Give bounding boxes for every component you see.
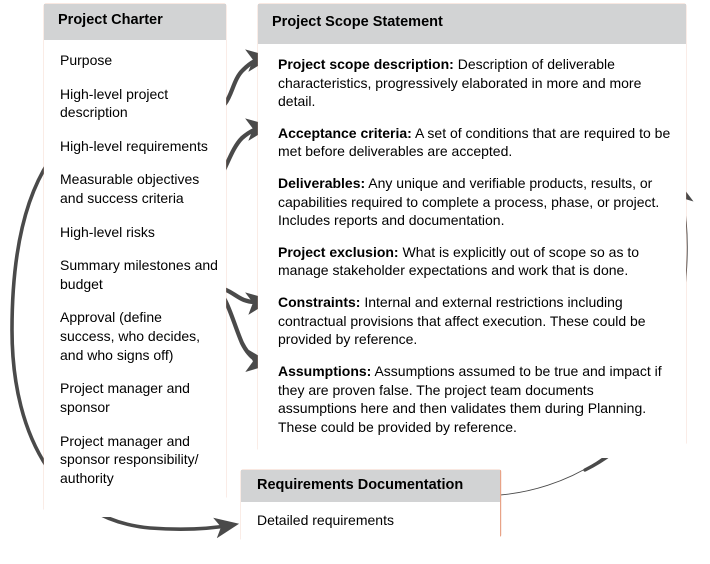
charter-item-summary-milestones-and-budget: Summary milestones and budget [60,256,218,293]
requirements-documentation-box: Requirements Documentation Detailed requ… [241,470,500,551]
charter-item-project-manager-and-sponsor: Project manager and sponsor [60,379,218,416]
charter-item-approval: Approval (define success, who decides, a… [60,308,218,364]
charter-item-high-level-requirements: High-level requirements [60,137,218,156]
box-content-layer: Project Charter Purpose High-level proje… [0,0,710,564]
scope-para-acceptance-criteria: Acceptance criteria: A set of conditions… [278,124,672,161]
charter-item-high-level-risks: High-level risks [60,223,218,242]
scope-term-deliverables: Deliverables: [278,175,365,191]
requirements-documentation-body: Detailed requirements [241,502,500,530]
scope-term-assumptions: Assumptions: [278,363,371,379]
charter-item-purpose: Purpose [60,51,218,70]
diagram-canvas: Project Charter Purpose High-level proje… [0,0,710,564]
requirements-item-detailed-requirements: Detailed requirements [257,511,490,530]
scope-para-constraints: Constraints: Internal and external restr… [278,293,672,349]
scope-term-project-scope-description: Project scope description: [278,56,454,72]
project-charter-body: Purpose High-level project description H… [44,40,226,487]
project-scope-statement-body: Project scope description: Description o… [258,44,686,436]
scope-para-assumptions: Assumptions: Assumptions assumed to be t… [278,362,672,436]
project-charter-header: Project Charter [44,4,226,40]
scope-para-deliverables: Deliverables: Any unique and verifiable … [278,174,672,230]
scope-para-project-scope-description: Project scope description: Description o… [278,55,672,111]
charter-item-high-level-project-description: High-level project description [60,85,218,122]
scope-para-project-exclusion: Project exclusion: What is explicitly ou… [278,243,672,280]
charter-item-measurable-objectives: Measurable objectives and success criter… [60,170,218,207]
project-scope-statement-box: Project Scope Statement Project scope de… [258,4,686,458]
scope-term-acceptance-criteria: Acceptance criteria: [278,125,412,141]
scope-term-constraints: Constraints: [278,294,360,310]
charter-item-sponsor-responsibility: Project manager and sponsor responsibili… [60,432,218,488]
scope-term-project-exclusion: Project exclusion: [278,244,399,260]
project-charter-box: Project Charter Purpose High-level proje… [44,4,226,517]
project-scope-statement-header: Project Scope Statement [258,4,686,44]
requirements-documentation-header: Requirements Documentation [241,470,500,502]
